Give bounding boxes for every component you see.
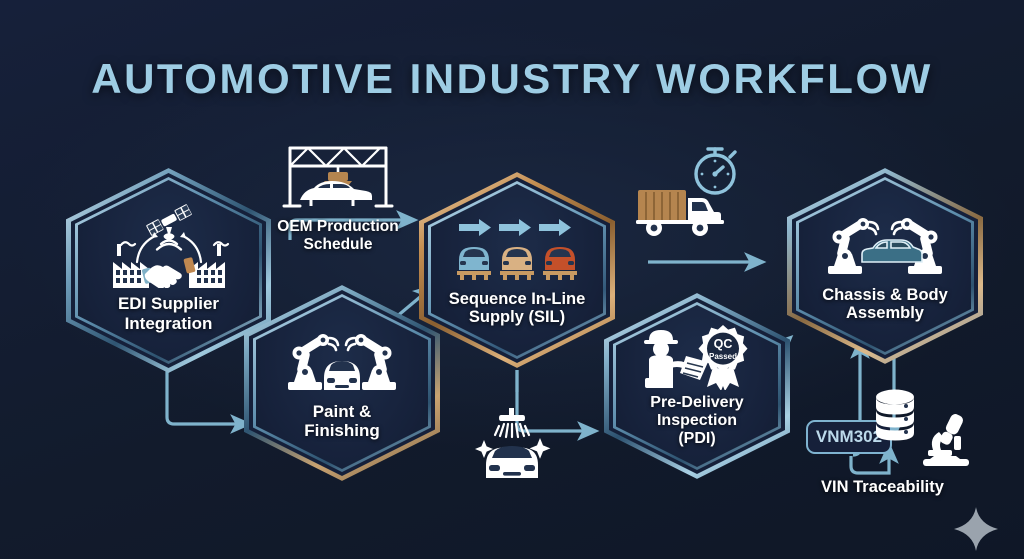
node-label: Chassis & Body Assembly	[822, 286, 948, 323]
three-cars-conveyor-icon	[453, 212, 581, 282]
sparkle-star-icon	[952, 505, 1000, 558]
node-sequence-in-line-supply[interactable]: Sequence In-Line Supply (SIL)	[419, 172, 615, 368]
database-cylinder-icon	[873, 388, 917, 444]
vin-traceability-label: VIN Traceability	[790, 478, 975, 497]
satellite-factories-handshake-icon	[107, 204, 231, 288]
robot-arms-car-body-icon	[822, 208, 948, 278]
node-label: EDI Supplier Integration	[118, 294, 219, 332]
node-chassis-body-assembly[interactable]: Chassis & Body Assembly	[787, 168, 983, 364]
floating-car-wash	[468, 406, 556, 480]
stopwatch-icon	[686, 140, 744, 200]
qc-badge-bottom: Passed	[709, 352, 737, 361]
qc-badge-top: QC	[714, 337, 733, 351]
node-label: Pre-Delivery Inspection (PDI)	[650, 394, 743, 448]
node-pre-delivery-inspection[interactable]: QC Passed Pre-Delivery Inspection (PDI)	[604, 293, 790, 479]
gantry-crane-car-icon	[278, 138, 398, 214]
floating-microscope	[920, 412, 974, 468]
oem-label: OEM Production Schedule	[277, 218, 398, 254]
floating-stopwatch	[686, 140, 744, 200]
node-paint-finishing[interactable]: Paint & Finishing	[244, 285, 440, 481]
inspector-qc-badge-icon: QC Passed	[639, 322, 755, 390]
floating-oem-production-schedule: OEM Production Schedule	[265, 138, 411, 254]
floating-database	[873, 388, 917, 444]
car-wash-icon	[468, 406, 556, 480]
node-label: Paint & Finishing	[304, 402, 380, 440]
microscope-icon	[920, 412, 974, 468]
infographic-canvas: AUTOMOTIVE INDUSTRY WORKFLOW	[0, 0, 1024, 559]
robot-arms-car-icon	[282, 324, 402, 394]
node-label: Sequence In-Line Supply (SIL)	[449, 290, 586, 327]
node-edi-supplier-integration[interactable]: EDI Supplier Integration	[66, 168, 271, 373]
